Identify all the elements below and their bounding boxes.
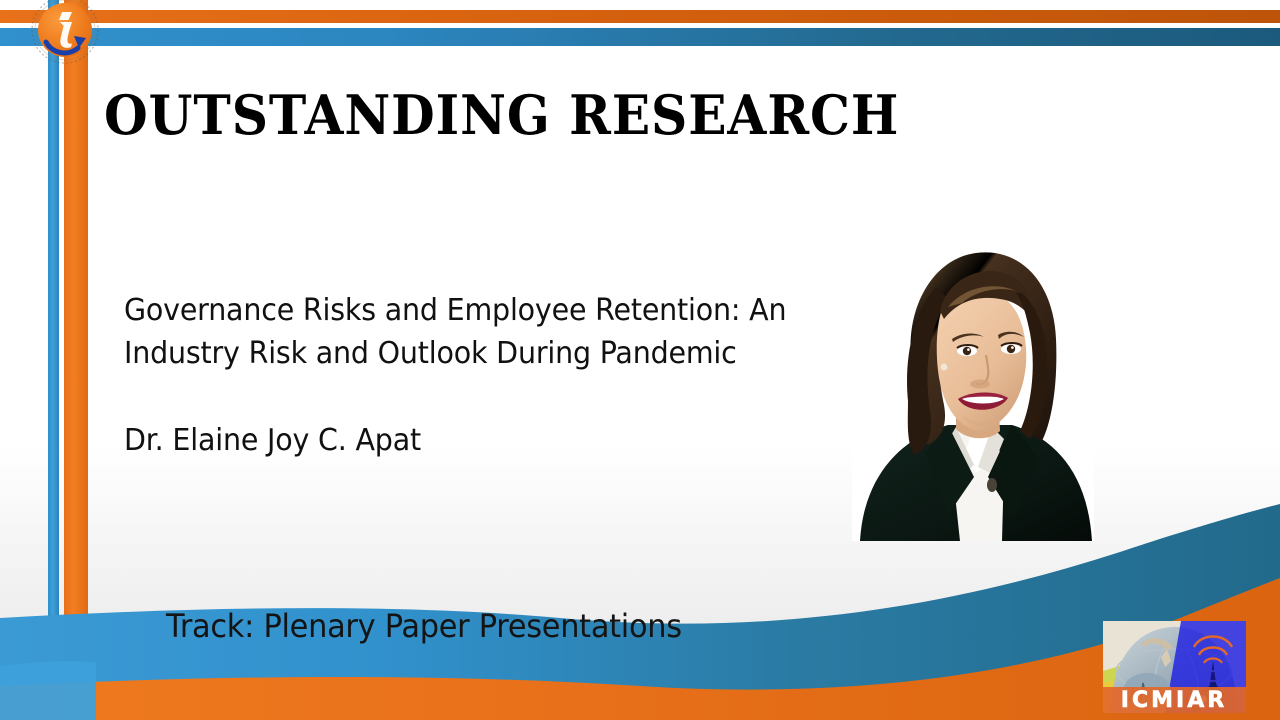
- page-title: OUTSTANDING RESEARCH: [104, 83, 899, 147]
- icmiar-wordmark: ICMIAR: [1121, 688, 1227, 713]
- paper-title-line-1: Governance Risks and Employee Retention:…: [124, 289, 827, 332]
- speaker-photo: [852, 215, 1094, 541]
- icmiar-logo: ICMIAR: [1103, 621, 1246, 713]
- paper-title-line-2: Industry Risk and Outlook During Pandemi…: [124, 332, 827, 375]
- paper-title: Governance Risks and Employee Retention:…: [124, 289, 827, 375]
- track-label: Track: Plenary Paper Presentations: [166, 607, 682, 645]
- presentation-slide: OUTSTANDING RESEARCH Governance Risks an…: [0, 0, 1280, 720]
- top-orange-stripe: [0, 10, 1280, 23]
- top-blue-stripe: [0, 28, 1280, 46]
- institution-i-logo: [26, 0, 104, 72]
- slide-body: Governance Risks and Employee Retention:…: [124, 289, 864, 463]
- presenter-name: Dr. Elaine Joy C. Apat: [124, 419, 827, 462]
